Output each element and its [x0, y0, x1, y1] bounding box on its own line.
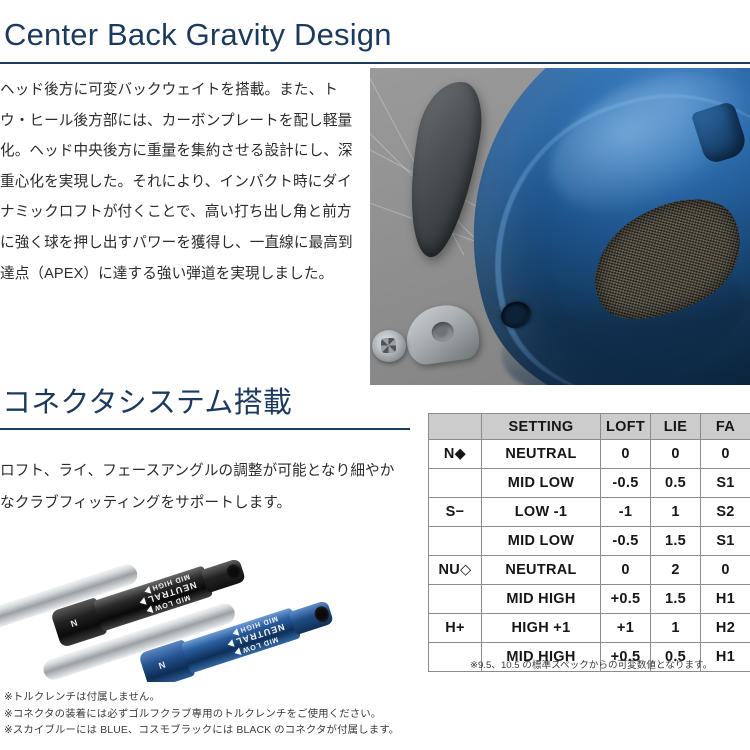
footnote-line: ※コネクタの装着には必ずゴルフクラブ専用のトルクレンチをご使用ください。 — [4, 707, 434, 724]
cell-setting: NEUTRAL — [482, 556, 601, 585]
connector-product-image: N MID HIGH NEUTRAL MID LOW N MID HIGH NE… — [0, 512, 410, 682]
table-row: S− LOW -1 -1 1 S2 — [429, 498, 750, 527]
footnote-line: ※スカイブルーには BLUE、コスモブラックには BLACK のコネクタが付属し… — [4, 723, 434, 740]
cell-setting: MID LOW — [482, 469, 601, 498]
cell-setting: HIGH +1 — [482, 614, 601, 643]
connector-tip — [201, 558, 246, 593]
cell-lie: 0.5 — [651, 469, 701, 498]
cell-fa: S1 — [701, 469, 750, 498]
product-spec-page: Center Back Gravity Design ヘッド後方に可変バックウェ… — [0, 0, 750, 750]
cell-lie: 0 — [651, 440, 701, 469]
cell-setting: MID HIGH — [482, 585, 601, 614]
cell-lie: 2 — [651, 556, 701, 585]
table-header-code — [429, 414, 482, 440]
page-footnotes: ※トルクレンチは付属しません。 ※コネクタの装着には必ずゴルフクラブ専用のトルク… — [4, 690, 434, 740]
cell-fa: H1 — [701, 585, 750, 614]
table-header-row: SETTING LOFT LIE FA — [429, 414, 750, 440]
table-row: MID LOW -0.5 1.5 S1 — [429, 527, 750, 556]
table-row: N◆ NEUTRAL 0 0 0 — [429, 440, 750, 469]
cell-loft: -0.5 — [601, 469, 651, 498]
cell-fa: 0 — [701, 556, 750, 585]
cell-code: H+ — [429, 614, 482, 643]
weight-screw — [372, 330, 406, 362]
driver-head-product-image — [370, 68, 750, 385]
cell-loft: -1 — [601, 498, 651, 527]
title-divider-top — [0, 62, 750, 64]
cell-fa: H2 — [701, 614, 750, 643]
cell-lie: 1 — [651, 498, 701, 527]
table-header-lie: LIE — [651, 414, 701, 440]
description-center-back-gravity: ヘッド後方に可変バックウェイトを搭載。また、トウ・ヒール後方部には、カーボンプレ… — [0, 75, 360, 289]
cell-code: NU◇ — [429, 556, 482, 585]
footnote-line: ※トルクレンチは付属しません。 — [4, 690, 434, 707]
cell-code: S− — [429, 498, 482, 527]
cell-fa: S2 — [701, 498, 750, 527]
cell-fa: 0 — [701, 440, 750, 469]
cell-lie: 1.5 — [651, 585, 701, 614]
page-title-center-back-gravity: Center Back Gravity Design — [4, 16, 392, 54]
page-title-connector-system: コネクタシステム搭載 — [2, 385, 292, 421]
description-connector-system: ロフト、ライ、フェースアングルの調整が可能となり細やかなクラブフィッティングをサ… — [0, 455, 400, 519]
table-header-loft: LOFT — [601, 414, 651, 440]
cell-code — [429, 527, 482, 556]
cell-loft: 0 — [601, 556, 651, 585]
loft-lie-fa-spec-table: SETTING LOFT LIE FA N◆ NEUTRAL 0 0 0 MID… — [428, 413, 750, 672]
cell-setting: NEUTRAL — [482, 440, 601, 469]
table-row: MID HIGH +0.5 1.5 H1 — [429, 585, 750, 614]
detached-back-weight — [402, 301, 481, 366]
table-header-fa: FA — [701, 414, 750, 440]
table-row: NU◇ NEUTRAL 0 2 0 — [429, 556, 750, 585]
cell-loft: -0.5 — [601, 527, 651, 556]
cell-loft: 0 — [601, 440, 651, 469]
cell-loft: +0.5 — [601, 585, 651, 614]
spec-table-footnote: ※9.5、10.5 の標準スペックからの可変数値となります。 — [470, 659, 750, 673]
cell-setting: LOW -1 — [482, 498, 601, 527]
table-row: MID LOW -0.5 0.5 S1 — [429, 469, 750, 498]
cell-code — [429, 469, 482, 498]
cell-lie: 1.5 — [651, 527, 701, 556]
connector-tip — [289, 600, 334, 635]
cell-fa: S1 — [701, 527, 750, 556]
table-header-setting: SETTING — [482, 414, 601, 440]
cell-code — [429, 585, 482, 614]
table-row: H+ HIGH +1 +1 1 H2 — [429, 614, 750, 643]
cell-lie: 1 — [651, 614, 701, 643]
cell-code: N◆ — [429, 440, 482, 469]
cell-setting: MID LOW — [482, 527, 601, 556]
cell-loft: +1 — [601, 614, 651, 643]
title-divider-bottom — [0, 428, 410, 430]
